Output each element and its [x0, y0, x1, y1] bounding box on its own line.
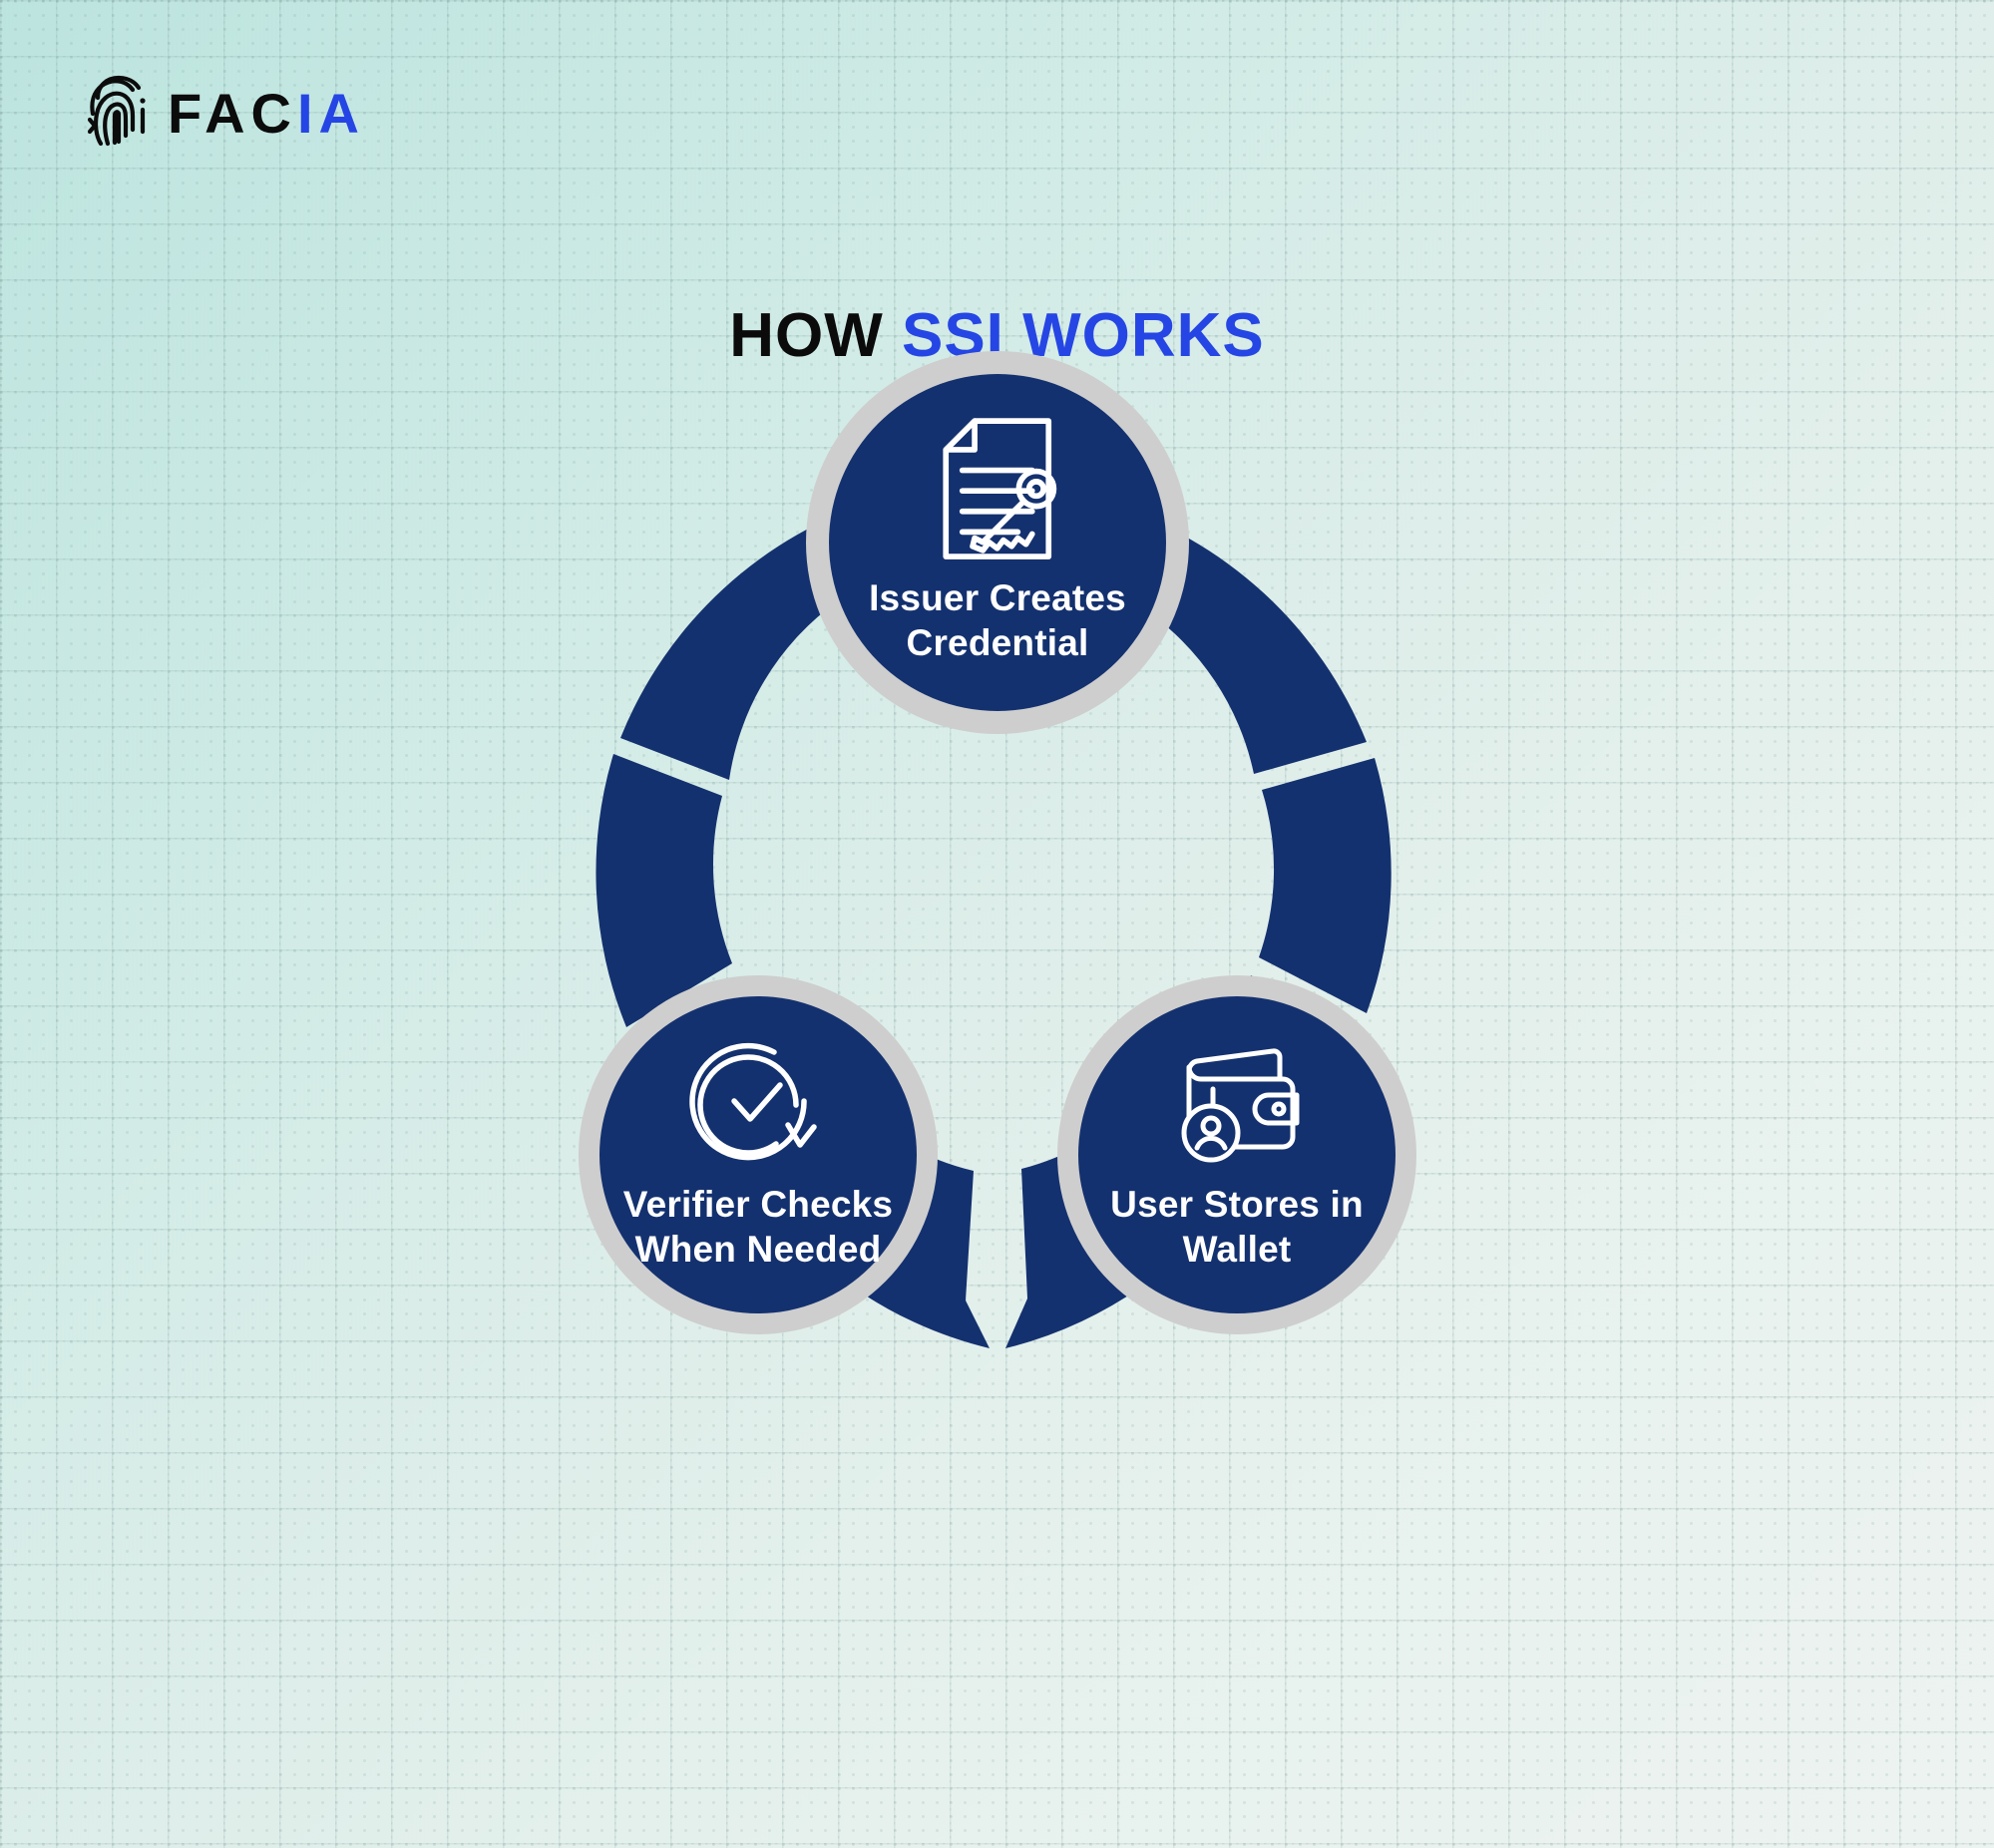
node-verifier[interactable]: Verifier Checks When Needed [579, 975, 938, 1334]
ring-segment-right-b [1259, 758, 1392, 1013]
ssi-cycle-diagram: Issuer Creates Credential User Stores [439, 351, 1556, 1458]
node-wallet[interactable]: User Stores in Wallet [1057, 975, 1416, 1334]
node-issuer-label-line1: Issuer Creates [869, 577, 1126, 618]
node-wallet-label-line2: Wallet [1182, 1229, 1291, 1270]
node-verifier-label-line2: When Needed [634, 1229, 881, 1270]
infographic-canvas: FACIA HOW SSI WORKS [0, 0, 1994, 1848]
logo-text-accent: IA [297, 82, 365, 145]
node-issuer-label-line2: Credential [906, 622, 1088, 663]
node-issuer[interactable]: Issuer Creates Credential [806, 351, 1189, 734]
fingerprint-icon [88, 74, 154, 153]
node-verifier-label-line1: Verifier Checks [622, 1184, 892, 1225]
facia-logo[interactable]: FACIA [88, 74, 365, 153]
logo-text-primary: FAC [168, 82, 297, 145]
node-wallet-label-line1: User Stores in [1110, 1184, 1364, 1225]
